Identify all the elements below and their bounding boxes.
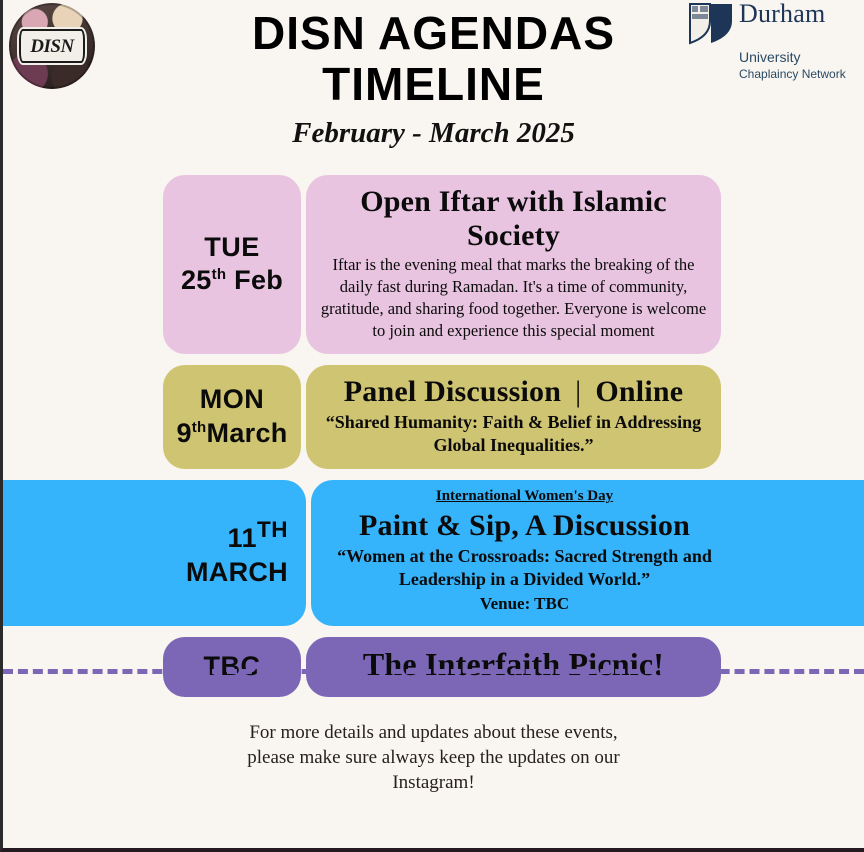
event-row-panel-discussion[interactable]: MON 9thMarch Panel Discussion|Online “Sh…	[3, 365, 864, 469]
event-content-cell: Panel Discussion|Online “Shared Humanity…	[306, 365, 721, 469]
event-row-open-iftar[interactable]: TUE 25th Feb Open Iftar with Islamic Soc…	[3, 175, 864, 354]
event-description: “Women at the Crossroads: Sacred Strengt…	[325, 545, 724, 592]
event-description: Iftar is the evening meal that marks the…	[320, 254, 707, 342]
page-title-line-2: TIMELINE	[322, 58, 545, 110]
event-date-month: March	[207, 418, 288, 448]
event-date-month: Feb	[226, 265, 283, 295]
page-subtitle: February - March 2025	[3, 117, 864, 150]
event-title: The Interfaith Picnic!	[363, 647, 664, 683]
event-date-cell: TUE 25th Feb	[163, 175, 301, 354]
event-date-suffix: TH	[257, 517, 288, 542]
event-date-cell: TBC	[163, 637, 301, 697]
event-row-interfaith-picnic[interactable]: TBC The Interfaith Picnic!	[3, 637, 864, 697]
durham-logo-top-row: Durham	[688, 2, 858, 50]
event-date: TBC	[204, 650, 261, 684]
event-weekday: MON	[200, 383, 265, 417]
page-title-line-1: DISN AGENDAS	[252, 7, 615, 59]
event-date: 11TH	[227, 516, 288, 556]
event-date-cell: MON 9thMarch	[163, 365, 301, 469]
event-eyebrow: International Women's Day	[325, 488, 724, 505]
event-title-mode: Online	[595, 375, 683, 408]
event-date-month: MARCH	[186, 556, 288, 590]
event-date-suffix: th	[212, 266, 227, 283]
event-date-number: 11	[227, 523, 257, 553]
event-date-suffix: th	[192, 419, 207, 436]
durham-university-logo: Durham University Chaplaincy Network	[688, 2, 858, 82]
events-timeline: TUE 25th Feb Open Iftar with Islamic Soc…	[3, 175, 864, 697]
durham-university-label: University	[688, 49, 858, 65]
event-row-paint-and-sip[interactable]: 11TH MARCH International Women's Day Pai…	[3, 480, 864, 625]
timeline-divider	[3, 669, 864, 674]
durham-chaplaincy-label: Chaplaincy Network	[688, 68, 858, 82]
footer-note: For more details and updates about these…	[3, 708, 864, 796]
event-date: 25th Feb	[181, 264, 283, 298]
disn-avatar-logo: DISN	[9, 3, 95, 89]
poster-header: DISN Durham University Chaplaincy Networ…	[3, 0, 864, 175]
event-date-cell: 11TH MARCH	[3, 480, 306, 625]
event-date-number: 25	[181, 265, 212, 295]
durham-shield-icon	[688, 3, 734, 50]
event-date-number: 9	[176, 418, 191, 448]
event-venue: Venue: TBC	[325, 594, 724, 614]
event-content-cell: Open Iftar with Islamic Society Iftar is…	[306, 175, 721, 354]
event-content-cell: International Women's Day Paint & Sip, A…	[311, 480, 864, 625]
event-content-cell: The Interfaith Picnic!	[306, 637, 721, 697]
event-title: Panel Discussion|Online	[320, 375, 707, 409]
event-title-main: Panel Discussion	[344, 375, 561, 408]
disn-badge-label: DISN	[30, 37, 73, 56]
event-description: “Shared Humanity: Faith & Belief in Addr…	[320, 411, 707, 458]
durham-wordmark: Durham	[739, 2, 825, 27]
poster-canvas: DISN Durham University Chaplaincy Networ…	[0, 0, 864, 852]
event-date: 9thMarch	[176, 417, 287, 451]
event-title: Paint & Sip, A Discussion	[325, 509, 724, 543]
event-weekday: TUE	[204, 231, 260, 265]
event-title: Open Iftar with Islamic Society	[320, 185, 707, 252]
disn-badge: DISN	[19, 29, 85, 63]
event-title-separator: |	[561, 375, 595, 409]
